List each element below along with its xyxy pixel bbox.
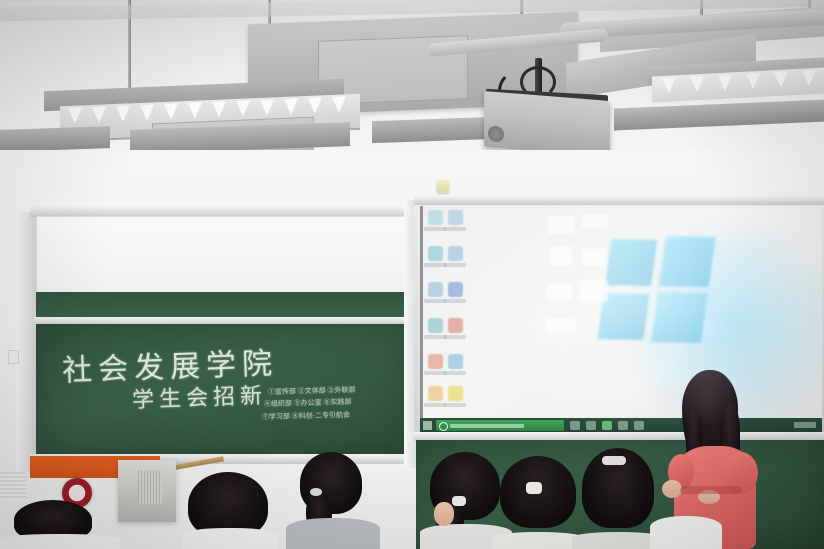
desktop-icon[interactable] — [444, 386, 466, 412]
office-word-icon — [448, 282, 463, 297]
notes-icon — [448, 386, 463, 401]
folder-icon — [428, 282, 443, 297]
desktop-window-tile — [582, 214, 608, 228]
student-7 — [0, 500, 120, 549]
desktop-icon[interactable] — [444, 246, 466, 272]
task-view-icon[interactable] — [570, 421, 580, 430]
taskbar-search-box[interactable] — [436, 420, 564, 431]
screen-left-edge-shadow — [420, 206, 423, 418]
explorer-icon[interactable] — [586, 421, 596, 430]
desktop-icon[interactable] — [424, 282, 446, 308]
icon-label — [424, 403, 446, 407]
desktop-window-tile — [580, 280, 608, 302]
desktop-icon[interactable] — [424, 246, 446, 272]
antivirus-icon — [428, 354, 443, 369]
icon-label — [424, 263, 446, 267]
student-hair-band — [602, 456, 626, 465]
icon-label — [444, 227, 466, 231]
music-icon — [428, 318, 443, 333]
desktop-icon[interactable] — [424, 318, 446, 344]
media-player-icon — [448, 246, 463, 261]
student-top — [650, 516, 722, 549]
blackboard-note-2: ④组织部 ⑤办公室 ⑥实践部 — [264, 397, 352, 410]
support-beam — [614, 100, 824, 131]
teacher-console-cabinet[interactable] — [118, 460, 176, 522]
presenter-hand — [662, 480, 682, 498]
desktop-icon[interactable] — [424, 210, 446, 236]
desktop-window-tile — [546, 318, 576, 332]
desktop-icon[interactable] — [444, 354, 466, 380]
icon-label — [424, 227, 446, 231]
presenter-waist-band — [680, 486, 742, 494]
photo-viewer-icon — [428, 386, 443, 401]
student-top — [492, 532, 584, 549]
blackboard-note-3: ⑦学习部 ⑧科创⋅二专引航会 — [262, 410, 350, 423]
mail-icon[interactable] — [618, 421, 628, 430]
computer-icon — [448, 210, 463, 225]
desktop-window-tile — [582, 248, 606, 266]
desktop-icon[interactable] — [424, 386, 446, 412]
desktop-window-tile — [548, 216, 574, 234]
wall-vent-grille — [0, 472, 26, 500]
desktop-window-tile — [546, 284, 572, 300]
student-top — [0, 534, 120, 549]
chat-icon — [448, 354, 463, 369]
search-placeholder-text — [450, 424, 524, 428]
icon-label — [444, 299, 466, 303]
system-tray-clock[interactable] — [794, 422, 816, 428]
desktop-icon[interactable] — [444, 282, 466, 308]
icon-label — [424, 335, 446, 339]
light-switch-plate[interactable] — [8, 350, 19, 364]
start-button[interactable] — [423, 421, 432, 430]
icon-label — [444, 263, 466, 267]
student-4 — [428, 490, 498, 549]
student-1 — [182, 472, 278, 549]
sliding-white-panel — [36, 216, 420, 294]
recycle-bin-icon — [428, 210, 443, 225]
desktop-icon[interactable] — [444, 210, 466, 236]
icon-label — [444, 403, 466, 407]
projector-lens — [488, 125, 504, 142]
student-hand — [434, 502, 454, 526]
pdf-reader-icon — [448, 318, 463, 333]
desktop-window-tile — [550, 246, 572, 266]
support-beam — [0, 126, 110, 152]
desktop-icon[interactable] — [424, 354, 446, 380]
classroom-photo: 社会发展学院 学生会招新 ①宣传部 ②文体部 ③外联部 ④组织部 ⑤办公室 ⑥实… — [0, 0, 824, 549]
student-hair-tie — [310, 488, 322, 496]
cabinet-vent — [138, 470, 162, 504]
main-blackboard: 社会发展学院 学生会招新 ①宣传部 ②文体部 ③外联部 ④组织部 ⑤办公室 ⑥实… — [36, 324, 416, 456]
wall-sensor — [437, 180, 449, 193]
student-8 — [650, 516, 722, 549]
board-frame-post-left — [16, 212, 38, 472]
player-icon[interactable] — [634, 421, 644, 430]
icon-label — [444, 335, 466, 339]
student-hair-clip — [452, 496, 466, 506]
browser-icon[interactable] — [602, 421, 612, 430]
student-5 — [492, 456, 584, 549]
icon-label — [424, 299, 446, 303]
student-2 — [286, 452, 380, 549]
windows-logo-wallpaper — [597, 239, 715, 345]
browser-icon — [428, 246, 443, 261]
desktop-icon[interactable] — [444, 318, 466, 344]
whiteboard-top-rail — [414, 196, 824, 205]
ceiling-projector — [484, 91, 610, 157]
student-top — [286, 518, 380, 549]
icon-label — [444, 371, 466, 375]
student-top — [182, 528, 278, 549]
student-hair-clip — [526, 482, 542, 494]
icon-label — [424, 371, 446, 375]
blackboard-subtitle: 学生会招新 — [131, 378, 267, 415]
search-icon — [439, 422, 448, 431]
blackboard-upper-strip — [36, 292, 416, 318]
